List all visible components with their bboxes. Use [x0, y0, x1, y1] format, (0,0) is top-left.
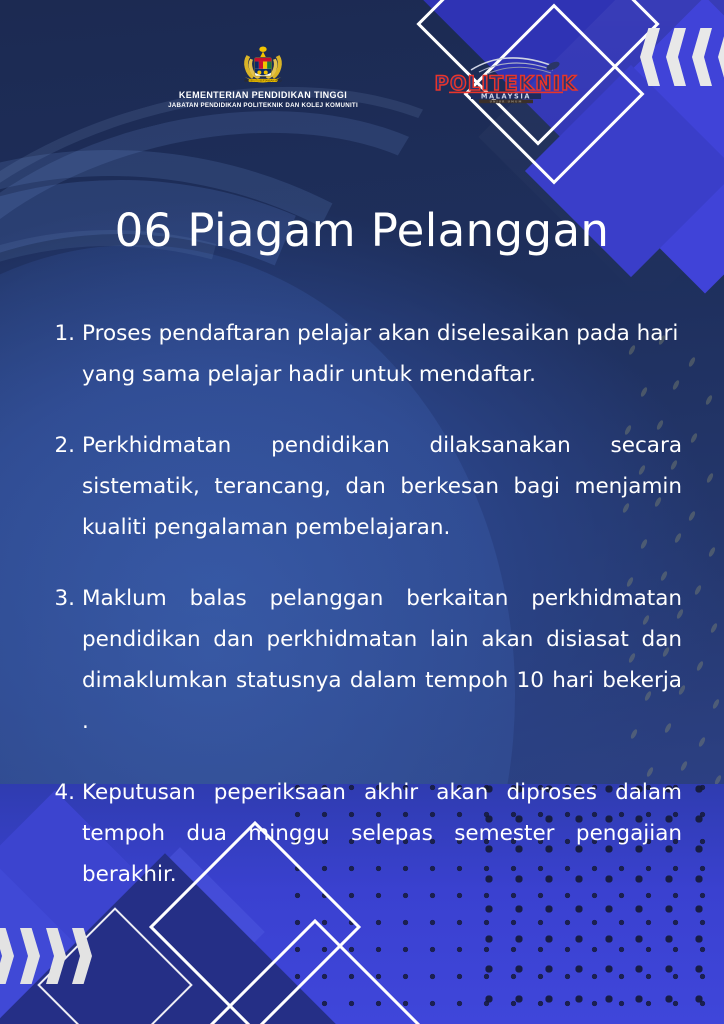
poster-header: BERSEKUTU BERTAMBAH MUTU KEMENTERIAN PEN…: [0, 46, 724, 109]
ministry-name-line1: KEMENTERIAN PENDIDIKAN TINGGI: [179, 90, 347, 100]
list-item-text: Keputusan peperiksaan akhir akan diprose…: [82, 772, 682, 895]
list-item: 4. Keputusan peperiksaan akhir akan dipr…: [52, 772, 682, 895]
list-item-text: Maklum balas pelanggan berkaitan perkhid…: [82, 578, 682, 742]
charter-list: 1. Proses pendaftaran pelajar akan disel…: [52, 313, 682, 925]
list-item-text: Proses pendaftaran pelajar akan diselesa…: [82, 313, 682, 395]
list-item-number: 2.: [52, 425, 82, 466]
page-title: 06 Piagam Pelanggan: [0, 204, 724, 257]
list-item-text: Perkhidmatan pendidikan dilaksanakan sec…: [82, 425, 682, 548]
list-item: 3. Maklum balas pelanggan berkaitan perk…: [52, 578, 682, 742]
list-item: 1. Proses pendaftaran pelajar akan disel…: [52, 313, 682, 395]
svg-text:UNJUR UMUM: UNJUR UMUM: [490, 100, 523, 104]
list-item-number: 4.: [52, 772, 82, 813]
malaysia-coat-of-arms-icon: BERSEKUTU BERTAMBAH MUTU: [235, 46, 291, 88]
svg-text:BERSEKUTU BERTAMBAH MUTU: BERSEKUTU BERTAMBAH MUTU: [244, 80, 281, 83]
poster-canvas: BERSEKUTU BERTAMBAH MUTU KEMENTERIAN PEN…: [0, 0, 724, 1024]
ministry-name-line2: JABATAN PENDIDIKAN POLITEKNIK DAN KOLEJ …: [168, 102, 358, 109]
list-item: 2. Perkhidmatan pendidikan dilaksanakan …: [52, 425, 682, 548]
chevron-right-group-icon: [0, 928, 144, 988]
politeknik-malaysia-logo-icon: POLITEKNIK MALAYSIA UNJUR UMUM: [431, 50, 581, 104]
list-item-number: 1.: [52, 313, 82, 354]
politeknik-logo-block: POLITEKNIK MALAYSIA UNJUR UMUM: [431, 46, 581, 109]
list-item-number: 3.: [52, 578, 82, 619]
ministry-logo-block: BERSEKUTU BERTAMBAH MUTU KEMENTERIAN PEN…: [143, 46, 383, 109]
